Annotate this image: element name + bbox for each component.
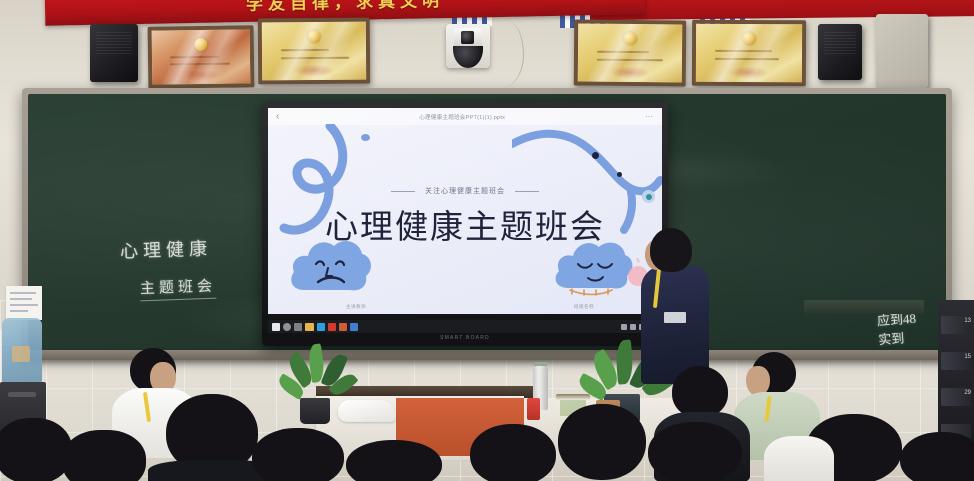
slide-filename: 心理健康主题班会PPT(1)(1).pptx (279, 113, 645, 121)
chalk-title: 心理健康 (120, 234, 213, 263)
student-head (252, 428, 344, 481)
presenter-hair (650, 228, 692, 272)
student-head (672, 366, 728, 418)
eyebrow-rule-right (515, 191, 539, 192)
display-chin: SMART BOARD (262, 330, 668, 346)
award-plaque-4 (692, 20, 806, 87)
display-brand: SMART BOARD (440, 335, 490, 341)
speaker-left (90, 24, 138, 82)
award-plaque-3 (574, 20, 687, 87)
student-head (558, 404, 646, 480)
notice-board (804, 300, 924, 314)
student-head (470, 424, 556, 481)
wall-cabinet-right (876, 14, 928, 88)
chalk-subtitle: 主题班会 (140, 275, 217, 302)
student-head (0, 418, 72, 481)
smart-display[interactable]: ‹ 心理健康主题班会PPT(1)(1).pptx ⋯ 关注心 (262, 102, 668, 346)
speaker-grill-icon (96, 32, 132, 54)
presenter-chest-logo (664, 312, 686, 323)
student-head (346, 440, 442, 481)
accent-dot-dark-2 (617, 172, 622, 177)
classroom-scene: 学友自律，求真文明 (0, 0, 974, 481)
poster-number-1: 15 (964, 354, 971, 360)
slide-eyebrow: 关注心理健康主题班会 (425, 186, 505, 196)
plant-pot-left (300, 398, 330, 424)
chalk-attendance-notes: 应到48 实到 病假3 事假2 (876, 309, 920, 350)
water-dispenser-tap[interactable] (8, 392, 36, 397)
eyebrow-rule-left (391, 191, 415, 192)
student-head (62, 430, 146, 481)
slide-footer-right: 班级名称 (574, 304, 594, 310)
red-cup (527, 398, 540, 420)
accent-dot-dark-1 (592, 152, 599, 159)
tray-icon-1[interactable] (621, 324, 627, 330)
slide-footer-left: 主讲教师 (346, 304, 366, 310)
poster-number-0: 13 (964, 318, 971, 324)
sad-cloud-illustration (286, 234, 374, 298)
student-head (648, 422, 742, 481)
slide-canvas[interactable]: ‹ 心理健康主题班会PPT(1)(1).pptx ⋯ 关注心 (268, 108, 662, 314)
more-options-icon[interactable]: ⋯ (645, 112, 654, 121)
accent-dot-small (328, 173, 331, 176)
white-object-on-desk (338, 400, 396, 422)
poster-number-2: 29 (964, 390, 971, 396)
student-shirt (764, 436, 834, 481)
calm-cloud-illustration (550, 236, 636, 296)
award-plaque-2 (258, 18, 370, 85)
speaker-right (818, 24, 862, 80)
tray-icon-2[interactable] (630, 324, 636, 330)
student-head (900, 432, 974, 481)
accent-dot-blue (361, 134, 370, 141)
speaker-grill-icon (824, 32, 856, 54)
wall-notice-paper (6, 286, 42, 320)
water-bottle-label (12, 346, 30, 362)
award-plaque-1 (148, 25, 255, 88)
slide-eyebrow-row: 关注心理健康主题班会 (268, 186, 662, 196)
camera-lens-icon (461, 31, 474, 44)
